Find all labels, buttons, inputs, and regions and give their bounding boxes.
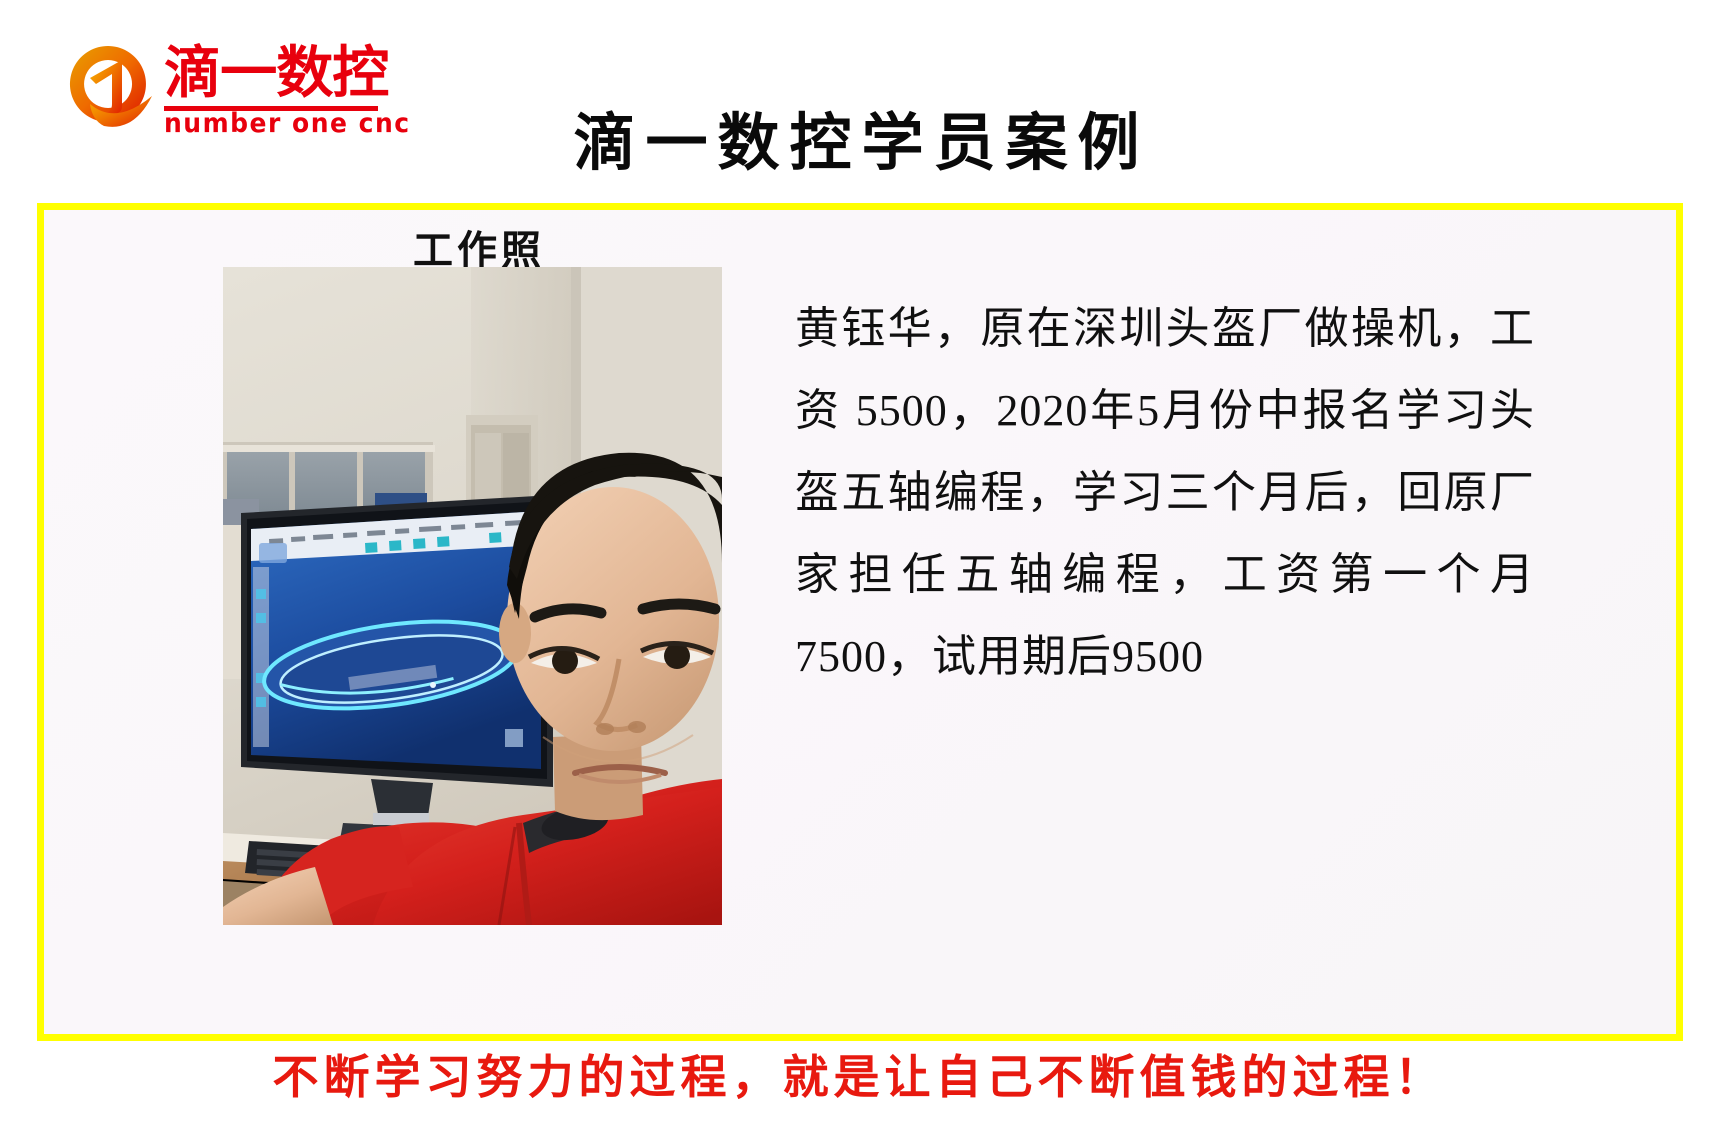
- footer-slogan: 不断学习努力的过程，就是让自己不断值钱的过程！: [0, 1047, 1713, 1107]
- brand-name-cn: 滴一数控: [164, 44, 388, 102]
- student-story-text: 黄钰华，原在深圳头盔厂做操机，工资 5500，2020年5月份中报名学习头盔五轴…: [795, 288, 1535, 698]
- page-title: 滴一数控学员案例: [0, 104, 1713, 184]
- page-header: 滴一数控 number one cnc 滴一数控学员案例: [0, 0, 1713, 200]
- student-work-photo: [223, 267, 722, 925]
